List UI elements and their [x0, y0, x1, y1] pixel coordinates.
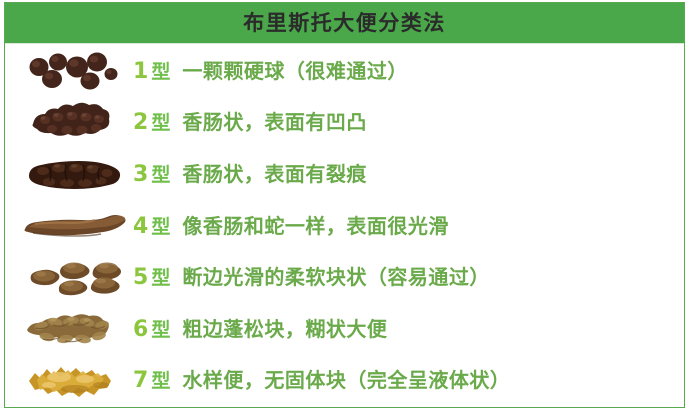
type-4-smooth-snake-icon — [19, 203, 131, 251]
type-2-lumpy-sausage-icon — [19, 99, 131, 147]
type-suffix: 型 — [151, 166, 170, 185]
list-item: 1 型 一颗颗硬球（很难通过） — [5, 46, 684, 98]
type-suffix: 型 — [151, 63, 170, 82]
row-label: 3 型 香肠状，表面有裂痕 — [133, 164, 367, 186]
row-label: 7 型 水样便，无固体块（完全呈液体状） — [133, 370, 510, 392]
row-label: 5 型 断边光滑的柔软块状（容易通过） — [133, 267, 490, 289]
list-item: 5 型 断边光滑的柔软块状（容易通过） — [5, 252, 684, 304]
row-label: 1 型 一颗颗硬球（很难通过） — [133, 61, 408, 83]
type-suffix: 型 — [151, 372, 170, 391]
type-description: 粗边蓬松块，糊状大便 — [182, 319, 387, 339]
type-number: 6 — [133, 319, 148, 341]
list-item: 2 型 香肠状，表面有凹凸 — [5, 98, 684, 150]
type-description: 水样便，无固体块（完全呈液体状） — [182, 370, 510, 390]
type-description: 一颗颗硬球（很难通过） — [182, 61, 408, 81]
page-title: 布里斯托大便分类法 — [243, 13, 446, 34]
list-item: 3 型 香肠状，表面有裂痕 — [5, 149, 684, 201]
type-3-cracked-sausage-icon — [19, 151, 131, 199]
type-6-fluffy-mushy-icon — [19, 306, 131, 354]
bristol-stool-chart-card: 布里斯托大便分类法 — [4, 2, 685, 408]
row-label: 2 型 香肠状，表面有凹凸 — [133, 112, 367, 134]
row-label: 6 型 粗边蓬松块，糊状大便 — [133, 319, 387, 341]
type-description: 像香肠和蛇一样，表面很光滑 — [182, 216, 449, 236]
type-suffix: 型 — [151, 114, 170, 133]
type-5-soft-blobs-icon — [19, 254, 131, 302]
list-item: 6 型 粗边蓬松块，糊状大便 — [5, 304, 684, 356]
type-suffix: 型 — [151, 321, 170, 340]
stool-type-list: 1 型 一颗颗硬球（很难通过） — [5, 44, 684, 407]
type-suffix: 型 — [151, 218, 170, 237]
type-1-separate-hard-lumps-icon — [19, 48, 131, 96]
type-7-watery-liquid-icon — [19, 357, 131, 405]
row-label: 4 型 像香肠和蛇一样，表面很光滑 — [133, 216, 449, 238]
type-number: 3 — [133, 164, 148, 186]
type-number: 2 — [133, 112, 148, 134]
type-number: 5 — [133, 267, 148, 289]
type-description: 断边光滑的柔软块状（容易通过） — [182, 267, 490, 287]
list-item: 4 型 像香肠和蛇一样，表面很光滑 — [5, 201, 684, 253]
type-description: 香肠状，表面有凹凸 — [182, 112, 367, 132]
list-item: 7 型 水样便，无固体块（完全呈液体状） — [5, 355, 684, 407]
chart-header: 布里斯托大便分类法 — [5, 3, 684, 44]
type-number: 1 — [133, 61, 148, 83]
type-number: 7 — [133, 370, 148, 392]
type-suffix: 型 — [151, 269, 170, 288]
type-number: 4 — [133, 216, 148, 238]
type-description: 香肠状，表面有裂痕 — [182, 164, 367, 184]
